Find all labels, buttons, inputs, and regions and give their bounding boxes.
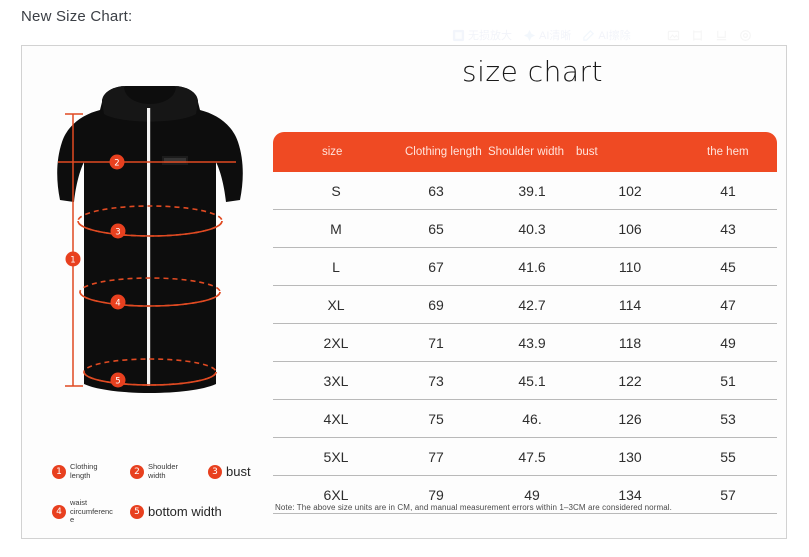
cell-clothing-length: 71 <box>413 335 459 351</box>
cell-the-hem: 57 <box>705 487 751 503</box>
svg-text:3: 3 <box>115 228 120 238</box>
svg-text:1: 1 <box>70 256 75 266</box>
marker-3: 3 <box>111 224 126 239</box>
ai-erase-icon <box>582 29 595 42</box>
cell-size: 5XL <box>313 449 359 465</box>
cell-size: 4XL <box>313 411 359 427</box>
cell-bust: 122 <box>607 373 653 389</box>
ai-sharpen-icon <box>523 29 536 42</box>
measurement-note: Note: The above size units are in CM, an… <box>275 503 672 512</box>
marker-1: 1 <box>66 252 81 267</box>
cell-size: 6XL <box>313 487 359 503</box>
legend-badge-2: 2 <box>130 465 144 479</box>
cell-clothing-length: 63 <box>413 183 459 199</box>
cell-size: 3XL <box>313 373 359 389</box>
cell-shoulder-width: 43.9 <box>509 335 555 351</box>
cell-shoulder-width: 40.3 <box>509 221 555 237</box>
cell-size: 2XL <box>313 335 359 351</box>
cell-shoulder-width: 41.6 <box>509 259 555 275</box>
svg-text:4: 4 <box>115 299 120 309</box>
column-header-shoulder-width: Shoulder width <box>488 146 564 158</box>
cell-size: M <box>313 221 359 237</box>
size-chart-table: size Clothing length Shoulder width bust… <box>273 132 777 514</box>
cell-clothing-length: 67 <box>413 259 459 275</box>
toolbar-enlarge-button[interactable]: 无损放大 <box>452 27 512 43</box>
cell-bust: 130 <box>607 449 653 465</box>
marker-2: 2 <box>110 155 125 170</box>
svg-text:2: 2 <box>114 159 119 169</box>
cell-clothing-length: 79 <box>413 487 459 503</box>
heated-vest-diagram: 1 2 3 4 5 <box>40 84 260 424</box>
size-chart-card: 1 2 3 4 5 1 Clothing lengt <box>21 45 787 539</box>
cell-clothing-length: 69 <box>413 297 459 313</box>
crop-image-icon[interactable] <box>667 29 680 42</box>
cell-size: S <box>313 183 359 199</box>
cell-bust: 126 <box>607 411 653 427</box>
cell-bust: 134 <box>607 487 653 503</box>
cell-the-hem: 53 <box>705 411 751 427</box>
marker-4: 4 <box>111 295 126 310</box>
legend-label-shoulder-width: Shoulder width <box>148 463 194 480</box>
cell-size: L <box>313 259 359 275</box>
settings-icon[interactable] <box>739 29 752 42</box>
legend-label-clothing-length: Clothing length <box>70 463 116 480</box>
legend-item-waist-circumference: 4 waist circumference <box>52 499 116 525</box>
column-header-the-hem: the hem <box>707 146 749 158</box>
legend-badge-1: 1 <box>52 465 66 479</box>
table-row: XL 69 42.7 114 47 <box>273 286 777 324</box>
cell-bust: 110 <box>607 259 653 275</box>
table-header-row: size Clothing length Shoulder width bust… <box>273 132 777 172</box>
cell-clothing-length: 77 <box>413 449 459 465</box>
cell-shoulder-width: 42.7 <box>509 297 555 313</box>
legend-label-bottom-width: bottom width <box>148 504 222 519</box>
toolbar-ai-erase-label: AI擦除 <box>598 27 630 43</box>
svg-text:5: 5 <box>115 377 120 387</box>
cell-clothing-length: 75 <box>413 411 459 427</box>
toolbar-ai-erase-button[interactable]: AI擦除 <box>582 27 630 43</box>
table-row: 4XL 75 46. 126 53 <box>273 400 777 438</box>
toolbar-ai-sharpen-label: AI清晰 <box>539 27 571 43</box>
legend-row-top: 1 Clothing length 2 Shoulder width 3 bus… <box>52 463 282 480</box>
cell-bust: 102 <box>607 183 653 199</box>
enlarge-icon <box>452 29 465 42</box>
legend-label-bust: bust <box>226 464 251 479</box>
table-row: 3XL 73 45.1 122 51 <box>273 362 777 400</box>
legend-label-waist-circumference: waist circumference <box>70 499 116 525</box>
cell-bust: 106 <box>607 221 653 237</box>
cell-the-hem: 45 <box>705 259 751 275</box>
cell-the-hem: 55 <box>705 449 751 465</box>
table-row: 5XL 77 47.5 130 55 <box>273 438 777 476</box>
cell-shoulder-width: 39.1 <box>509 183 555 199</box>
cell-the-hem: 41 <box>705 183 751 199</box>
size-chart-title: size chart <box>277 55 788 88</box>
table-row: L 67 41.6 110 45 <box>273 248 777 286</box>
cell-shoulder-width: 45.1 <box>509 373 555 389</box>
legend-item-bottom-width: 5 bottom width <box>130 504 222 519</box>
legend-row-bottom: 4 waist circumference 5 bottom width <box>52 499 282 525</box>
cell-shoulder-width: 49 <box>509 487 555 503</box>
table-row: 2XL 71 43.9 118 49 <box>273 324 777 362</box>
cell-the-hem: 51 <box>705 373 751 389</box>
legend-item-clothing-length: 1 Clothing length <box>52 463 116 480</box>
cell-shoulder-width: 47.5 <box>509 449 555 465</box>
column-header-bust: bust <box>576 146 598 158</box>
cell-the-hem: 47 <box>705 297 751 313</box>
marker-5: 5 <box>111 373 126 388</box>
legend-item-bust: 3 bust <box>208 464 251 479</box>
legend-badge-3: 3 <box>208 465 222 479</box>
resize-icon[interactable] <box>691 29 704 42</box>
cell-clothing-length: 73 <box>413 373 459 389</box>
legend-badge-5: 5 <box>130 505 144 519</box>
cell-the-hem: 49 <box>705 335 751 351</box>
legend-item-shoulder-width: 2 Shoulder width <box>130 463 194 480</box>
rotate-icon[interactable] <box>715 29 728 42</box>
cell-the-hem: 43 <box>705 221 751 237</box>
cell-shoulder-width: 46. <box>509 411 555 427</box>
legend-badge-4: 4 <box>52 505 66 519</box>
cell-bust: 114 <box>607 297 653 313</box>
cell-bust: 118 <box>607 335 653 351</box>
table-row: S 63 39.1 102 41 <box>273 172 777 210</box>
measurement-legend: 1 Clothing length 2 Shoulder width 3 bus… <box>52 463 282 544</box>
editor-toolbar: 无损放大 AI清晰 AI擦除 <box>452 23 752 47</box>
cell-clothing-length: 65 <box>413 221 459 237</box>
toolbar-ai-sharpen-button[interactable]: AI清晰 <box>523 27 571 43</box>
table-row: M 65 40.3 106 43 <box>273 210 777 248</box>
column-header-clothing-length: Clothing length <box>405 146 482 158</box>
toolbar-enlarge-label: 无损放大 <box>468 27 512 43</box>
column-header-size: size <box>322 146 342 158</box>
cell-size: XL <box>313 297 359 313</box>
page-title: New Size Chart: <box>21 8 132 25</box>
